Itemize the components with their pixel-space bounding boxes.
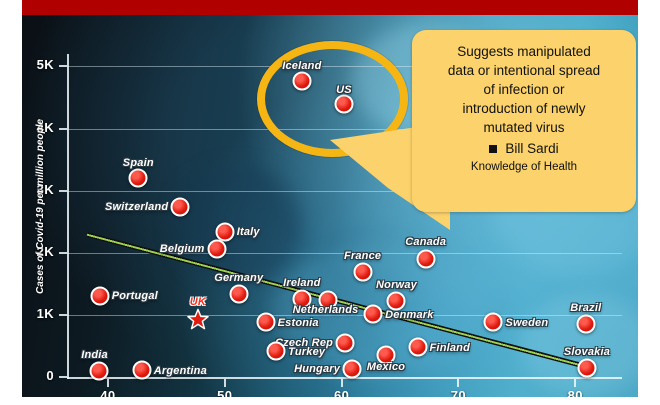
bullet-icon <box>489 145 497 153</box>
data-point[interactable] <box>129 169 148 188</box>
point-label: Norway <box>376 279 417 291</box>
point-label: Mexico <box>367 361 406 373</box>
point-label: Iceland <box>282 60 321 72</box>
point-label: Netherlands <box>293 304 359 316</box>
data-point[interactable] <box>364 304 383 323</box>
y-axis-title: Cases of Covid-19 per million people <box>35 119 46 294</box>
callout-line-3: of infection or <box>426 80 622 99</box>
point-label: Germany <box>214 272 263 284</box>
xtick-mark <box>107 379 109 387</box>
ytick-label: 5K <box>22 57 54 72</box>
xtick-mark <box>574 379 576 387</box>
point-label: Italy <box>237 226 260 238</box>
data-point[interactable] <box>577 359 596 378</box>
data-point[interactable] <box>215 222 234 241</box>
xtick-label: 50 <box>199 388 251 397</box>
ytick-mark <box>59 376 67 378</box>
ytick-label: 1K <box>22 306 54 321</box>
point-label: Belgium <box>160 243 205 255</box>
callout-attribution: Bill Sardi <box>505 139 558 158</box>
point-label: Brazil <box>570 302 601 314</box>
data-point[interactable] <box>132 360 151 379</box>
xtick-label: 70 <box>432 388 484 397</box>
slide-canvas: 01K2K3K4K5K4050607080Cases of Covid-19 p… <box>0 0 660 405</box>
ytick-mark <box>59 252 67 254</box>
ytick-mark <box>59 314 67 316</box>
data-point[interactable] <box>343 359 362 378</box>
data-point[interactable] <box>576 314 595 333</box>
ytick-mark <box>59 128 67 130</box>
data-point[interactable] <box>353 263 372 282</box>
page-margin-left <box>0 0 22 405</box>
data-point[interactable] <box>207 240 226 259</box>
callout-bubble: Suggests manipulated data or intentional… <box>412 30 636 212</box>
data-point[interactable] <box>256 313 275 332</box>
data-point-star[interactable] <box>187 308 209 329</box>
data-point[interactable] <box>336 334 355 353</box>
data-point[interactable] <box>334 95 353 114</box>
callout-source: Knowledge of Health <box>426 159 622 175</box>
callout-line-5: mutated virus <box>426 118 622 137</box>
data-point[interactable] <box>408 338 427 357</box>
point-label: Finland <box>430 342 471 354</box>
callout-line-1: Suggests manipulated <box>426 42 622 61</box>
point-label: Argentina <box>154 365 207 377</box>
data-point[interactable] <box>90 287 109 306</box>
data-point[interactable] <box>416 249 435 268</box>
point-label: UK <box>190 296 206 308</box>
data-point[interactable] <box>267 341 286 360</box>
point-label: Slovakia <box>564 346 610 358</box>
data-point[interactable] <box>171 197 190 216</box>
data-point[interactable] <box>89 362 108 381</box>
ytick-label: 0 <box>22 368 54 383</box>
ytick-mark <box>59 65 67 67</box>
data-point[interactable] <box>484 312 503 331</box>
point-label: Hungary <box>294 363 340 375</box>
point-label: Ireland <box>283 277 320 289</box>
top-red-banner <box>22 0 638 15</box>
callout-line-4: introduction of newly <box>426 99 622 118</box>
point-label: Denmark <box>385 309 433 321</box>
point-label: Estonia <box>278 317 319 329</box>
point-label: France <box>344 250 381 262</box>
data-point[interactable] <box>387 291 406 310</box>
point-label: Portugal <box>112 290 158 302</box>
y-axis <box>67 54 69 379</box>
point-label: Switzerland <box>105 201 168 213</box>
data-point[interactable] <box>292 71 311 90</box>
point-label: Turkey <box>288 346 325 358</box>
point-label: India <box>81 349 108 361</box>
xtick-label: 80 <box>549 388 601 397</box>
callout-line-2: data or intentional spread <box>426 61 622 80</box>
xtick-mark <box>457 379 459 387</box>
ytick-mark <box>59 190 67 192</box>
data-point[interactable] <box>229 285 248 304</box>
point-label: Spain <box>123 157 154 169</box>
xtick-label: 40 <box>82 388 134 397</box>
page-margin-bottom <box>0 397 660 405</box>
x-axis <box>67 377 622 379</box>
xtick-mark <box>341 379 343 387</box>
point-label: US <box>336 84 352 96</box>
xtick-label: 60 <box>316 388 368 397</box>
point-label: Sweden <box>505 317 548 329</box>
xtick-mark <box>224 379 226 387</box>
page-margin-right <box>638 0 660 405</box>
